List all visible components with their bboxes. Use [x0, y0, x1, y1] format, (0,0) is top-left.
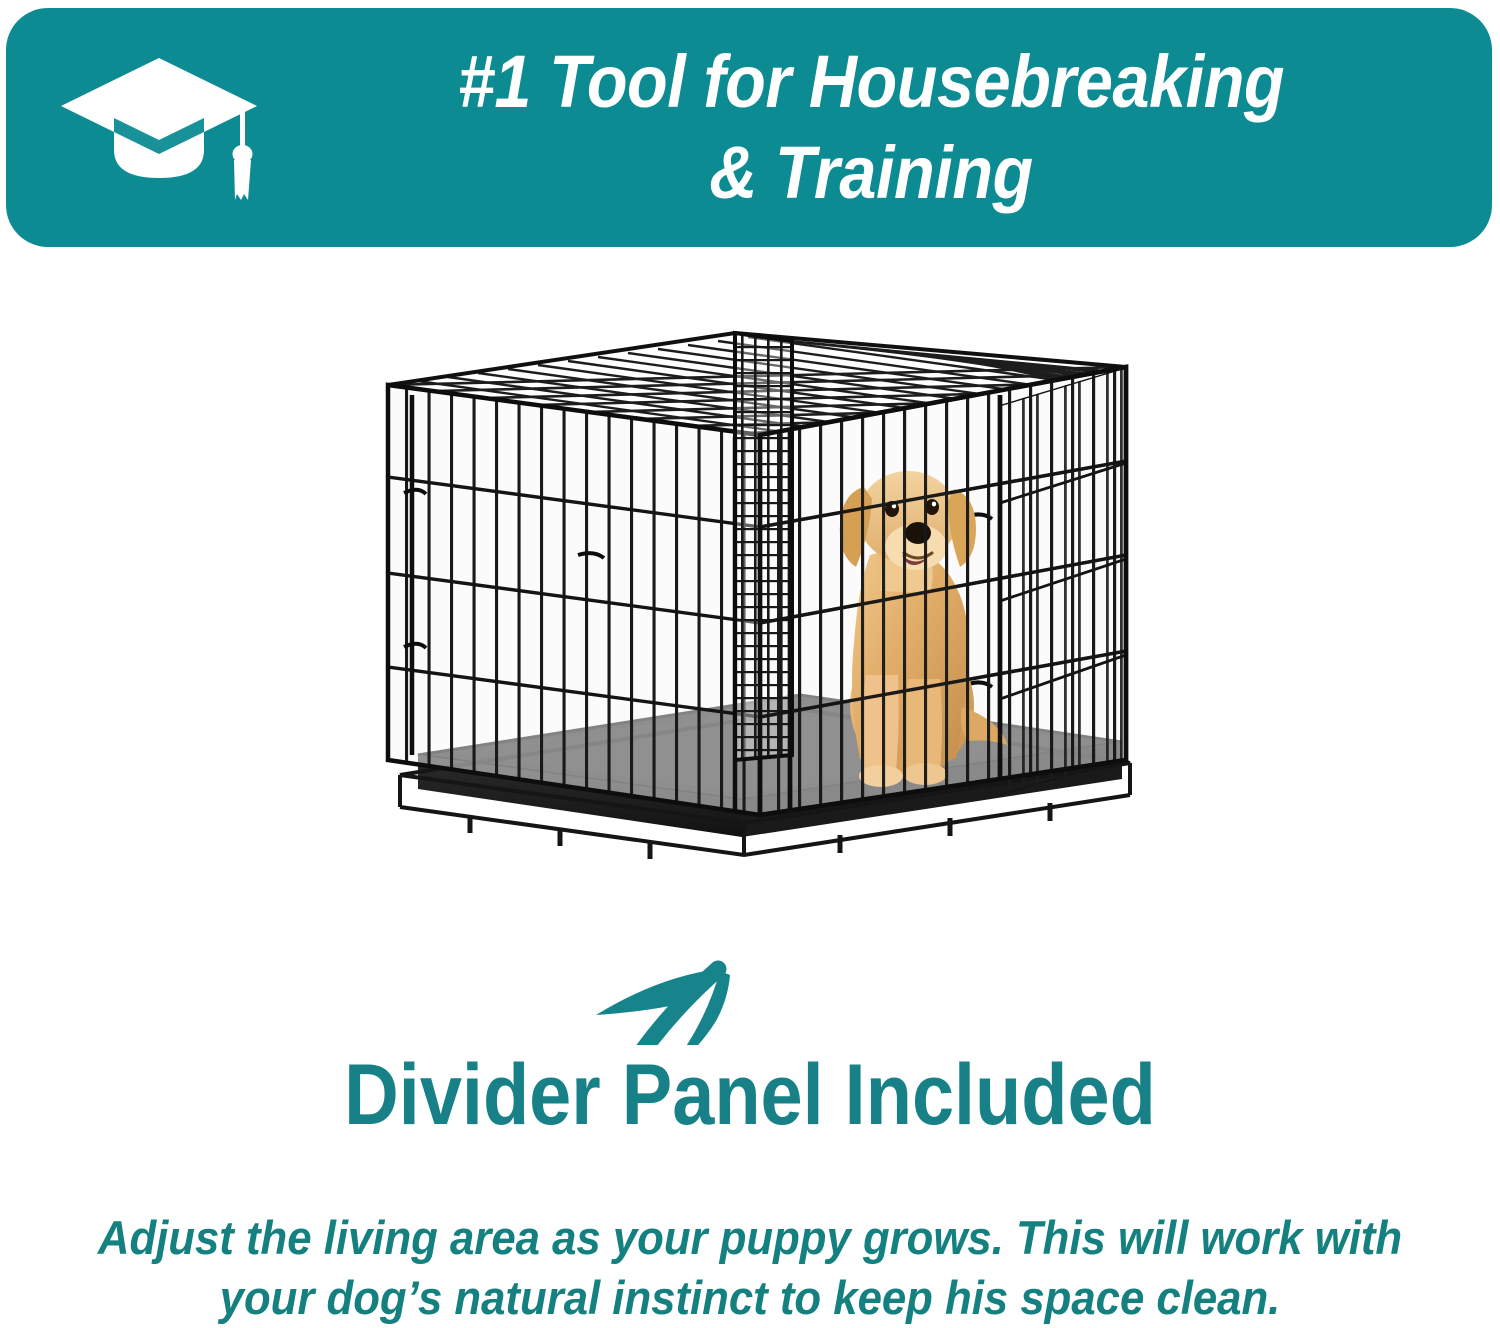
subtext-line-1: Adjust the living area as your puppy gro…: [53, 1208, 1448, 1268]
dog-crate-illustration: [0, 255, 1500, 1045]
page-subtext: Adjust the living area as your puppy gro…: [53, 1208, 1448, 1328]
product-photo: [0, 255, 1500, 1045]
banner-title: #1 Tool for Housebreaking & Training: [363, 20, 1380, 235]
product-feature-graphic: #1 Tool for Housebreaking & Training: [0, 0, 1500, 1328]
graduation-cap-icon: [54, 50, 284, 210]
banner-title-line-2: & Training: [709, 128, 1033, 218]
subtext-line-2: your dog’s natural instinct to keep his …: [53, 1268, 1448, 1328]
header-banner: #1 Tool for Housebreaking & Training: [6, 8, 1492, 247]
page-headline: Divider Panel Included: [90, 1052, 1410, 1138]
divider-panel-arrow: [586, 969, 730, 1045]
banner-title-line-1: #1 Tool for Housebreaking: [458, 37, 1284, 127]
